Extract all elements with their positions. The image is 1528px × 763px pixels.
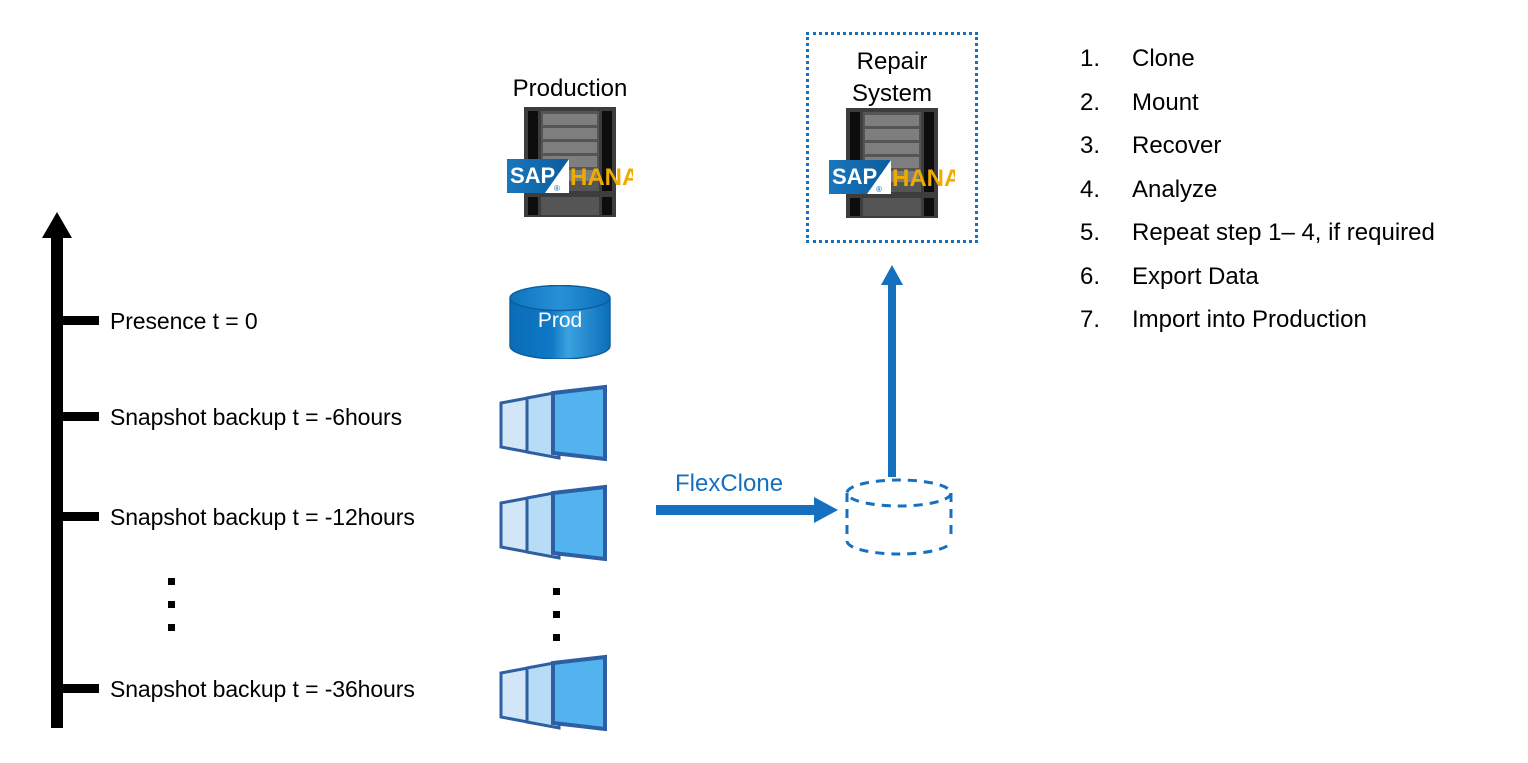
step-number-7: 7. — [1080, 305, 1132, 335]
repair-caption-line2: System — [806, 79, 978, 108]
step-item-4: 4. Analyze — [1080, 175, 1510, 219]
production-caption: Production — [468, 74, 672, 103]
snapshot-icon-36hours — [497, 653, 609, 731]
step-text-6: Export Data — [1132, 262, 1259, 292]
repair-server-rack-icon: SAP ® HANA — [846, 108, 938, 218]
clone-to-repair-arrow — [880, 265, 904, 477]
steps-list: 1. Clone 2. Mount 3. Recover 4. Analyze … — [1080, 44, 1510, 349]
svg-text:®: ® — [876, 185, 882, 194]
time-axis-arrow — [42, 212, 78, 728]
axis-label-36hours: Snapshot backup t = -36hours — [110, 678, 415, 701]
step-text-4: Analyze — [1132, 175, 1217, 205]
step-item-5: 5. Repeat step 1– 4, if required — [1080, 218, 1510, 262]
snapshot-icon-12hours — [497, 483, 609, 561]
axis-label-12hours: Snapshot backup t = -12hours — [110, 506, 415, 529]
svg-text:SAP: SAP — [832, 164, 877, 189]
step-text-7: Import into Production — [1132, 305, 1367, 335]
step-item-7: 7. Import into Production — [1080, 305, 1510, 349]
svg-text:®: ® — [554, 184, 560, 193]
step-text-5: Repeat step 1– 4, if required — [1132, 218, 1435, 248]
axis-label-presence: Presence t = 0 — [110, 310, 258, 333]
flexclone-label: FlexClone — [675, 470, 783, 498]
step-number-3: 3. — [1080, 131, 1132, 161]
axis-tick-6hours — [63, 412, 99, 421]
step-number-4: 4. — [1080, 175, 1132, 205]
axis-tick-presence — [63, 316, 99, 325]
step-number-2: 2. — [1080, 88, 1132, 118]
step-text-3: Recover — [1132, 131, 1221, 161]
clone-database-cylinder — [843, 478, 955, 558]
step-item-3: 3. Recover — [1080, 131, 1510, 175]
axis-tick-36hours — [63, 684, 99, 693]
svg-text:HANA: HANA — [892, 165, 955, 192]
production-database-cylinder: Prod — [508, 285, 612, 359]
svg-text:HANA: HANA — [570, 164, 633, 191]
step-number-5: 5. — [1080, 218, 1132, 248]
timeline-ellipsis-icons — [553, 588, 560, 641]
step-text-2: Mount — [1132, 88, 1199, 118]
timeline-ellipsis-labels — [168, 578, 175, 631]
step-item-1: 1. Clone — [1080, 44, 1510, 88]
step-number-1: 1. — [1080, 44, 1132, 74]
production-sap-hana-logo: SAP ® HANA — [507, 159, 633, 193]
production-server-rack-icon: SAP ® HANA — [524, 107, 616, 217]
repair-sap-hana-logo: SAP ® HANA — [829, 160, 955, 194]
snapshot-icon-6hours — [497, 383, 609, 461]
step-item-6: 6. Export Data — [1080, 262, 1510, 306]
repair-caption-line1: Repair — [806, 47, 978, 76]
step-text-1: Clone — [1132, 44, 1195, 74]
svg-text:SAP: SAP — [510, 163, 555, 188]
diagram-canvas: Presence t = 0 Snapshot backup t = -6hou… — [0, 0, 1528, 763]
step-number-6: 6. — [1080, 262, 1132, 292]
axis-label-6hours: Snapshot backup t = -6hours — [110, 406, 402, 429]
step-item-2: 2. Mount — [1080, 88, 1510, 132]
flexclone-arrow — [656, 497, 838, 523]
axis-tick-12hours — [63, 512, 99, 521]
